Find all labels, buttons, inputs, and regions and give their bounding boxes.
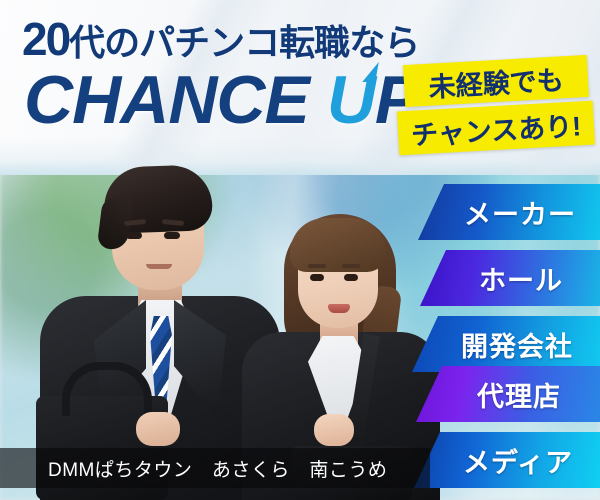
logo-word-chance: CHANCE	[24, 62, 309, 138]
category-bar-media[interactable]: メディア	[414, 432, 600, 488]
badge-chance-available-label: チャンスあり!	[410, 104, 582, 152]
headline-number: 20	[22, 13, 69, 65]
category-bar-development-company[interactable]: 開発会社	[412, 316, 600, 372]
banner-advertisement[interactable]: 20代のパチンコ転職なら CHANCE UP 未経験でも チャンスあり! メーカ…	[0, 0, 600, 500]
businessman-eye-left	[126, 232, 142, 239]
category-label-media: メディア	[441, 441, 573, 480]
caption-text: DMMぱちタウン あさくら 南こうめ	[0, 455, 387, 482]
businessman-hand	[136, 412, 180, 446]
category-bar-hall[interactable]: ホール	[420, 250, 600, 306]
headline-suffix: なら	[349, 22, 419, 63]
badge-no-experience-label: 未経験でも	[428, 58, 565, 104]
category-bar-agency[interactable]: 代理店	[416, 366, 600, 422]
businesswoman-eye-right	[344, 274, 358, 281]
caption-band: DMMぱちタウン あさくら 南こうめ	[0, 448, 430, 488]
businesswoman-hand	[314, 414, 354, 446]
businesswoman-mouth	[328, 304, 350, 313]
category-label-hall: ホール	[457, 259, 563, 298]
businesswoman-eyebrow-right	[342, 264, 360, 268]
businesswoman-eyebrow-left	[308, 264, 326, 268]
people-photo-group	[0, 140, 430, 500]
headline-body: 代のパチンコ転職	[69, 22, 349, 63]
businesswoman-eye-left	[310, 274, 324, 281]
category-bar-maker[interactable]: メーカー	[418, 184, 600, 240]
logo-letter-u: U	[327, 66, 375, 134]
businessman-mouth	[146, 264, 172, 269]
headline-text: 20代のパチンコ転職なら	[22, 16, 419, 62]
category-label-development-company: 開発会社	[439, 325, 573, 364]
category-label-agency: 代理店	[455, 375, 561, 414]
category-label-maker: メーカー	[442, 193, 576, 232]
businesswoman-hair-front	[290, 218, 386, 272]
businessman-hair	[103, 164, 213, 234]
businessman-eye-right	[164, 232, 180, 239]
logo-chance-up: CHANCE UP	[24, 66, 419, 134]
